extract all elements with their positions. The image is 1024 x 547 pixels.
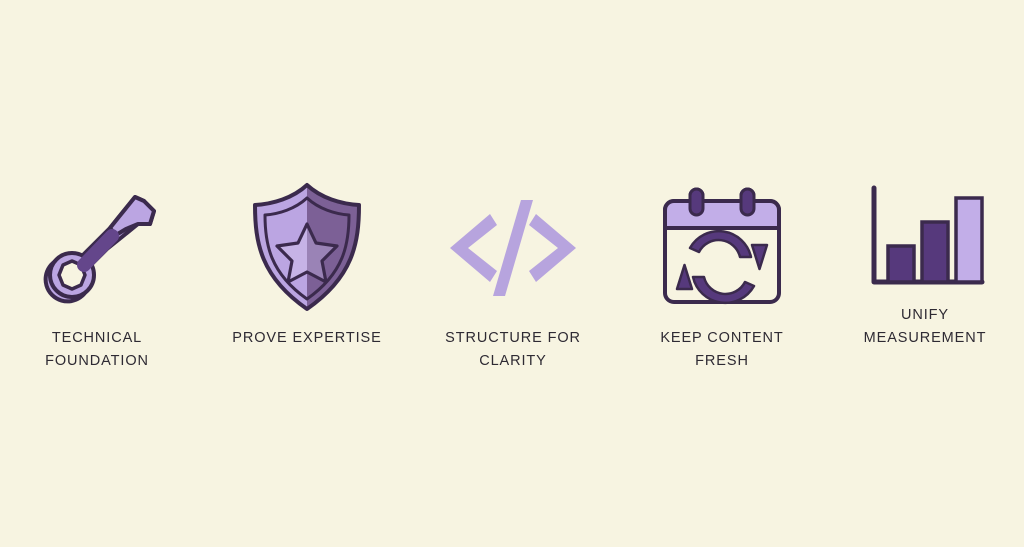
calendar-refresh-icon (656, 185, 788, 311)
wrench-icon (32, 183, 162, 313)
infographic-canvas: TECHNICAL FOUNDATION (0, 0, 1024, 547)
bar-chart-icon (860, 184, 990, 294)
bar-chart-icon-container (855, 180, 995, 298)
feature-label: STRUCTURE FOR CLARITY (431, 327, 596, 373)
feature-label: PROVE EXPERTISE (232, 327, 381, 350)
calendar-refresh-icon-container (652, 180, 792, 315)
feature-label: TECHNICAL FOUNDATION (15, 327, 180, 373)
shield-star-icon-container (237, 180, 377, 315)
code-brackets-icon (447, 192, 579, 304)
feature-item-unify-measurement: UNIFY MEASUREMENT (835, 180, 1015, 350)
feature-item-prove-expertise: PROVE EXPERTISE (217, 180, 397, 350)
feature-label: KEEP CONTENT FRESH (640, 327, 805, 373)
code-brackets-icon-container (443, 180, 583, 315)
chart-bar-1 (888, 246, 914, 282)
feature-item-keep-content-fresh: KEEP CONTENT FRESH (632, 180, 812, 373)
feature-item-technical-foundation: TECHNICAL FOUNDATION (7, 180, 187, 373)
chart-bar-2 (922, 222, 948, 282)
chart-bar-3 (956, 198, 982, 282)
feature-item-structure-for-clarity: STRUCTURE FOR CLARITY (423, 180, 603, 373)
shield-star-icon (247, 181, 367, 315)
feature-label: UNIFY MEASUREMENT (843, 304, 1008, 350)
wrench-icon-container (27, 180, 167, 315)
